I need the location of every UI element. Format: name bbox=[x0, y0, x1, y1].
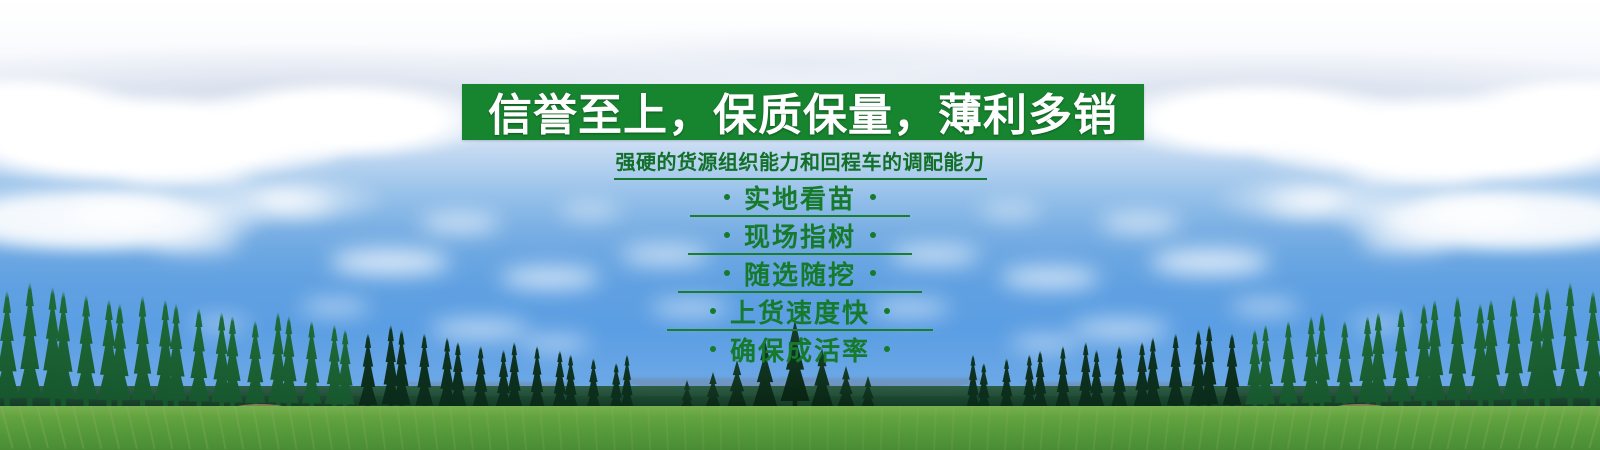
bullet-dot-icon bbox=[724, 270, 730, 276]
feature-row: 实地看苗 bbox=[0, 178, 1600, 216]
feature-row: 现场指树 bbox=[0, 216, 1600, 254]
feature-list: 实地看苗现场指树随选随挖上货速度快确保成活率 bbox=[0, 178, 1600, 368]
subtitle-text: 强硬的货源组织能力和回程车的调配能力 bbox=[614, 146, 987, 180]
subtitle: 强硬的货源组织能力和回程车的调配能力 bbox=[0, 146, 1600, 180]
bullet-dot-icon bbox=[870, 270, 876, 276]
bullet-dot-icon bbox=[884, 346, 890, 352]
promotional-banner: 信誉至上，保质保量，薄利多销 强硬的货源组织能力和回程车的调配能力 实地看苗现场… bbox=[0, 0, 1600, 450]
feature-label: 现场指树 bbox=[744, 217, 856, 254]
bullet-dot-icon bbox=[710, 346, 716, 352]
feature-label: 上货速度快 bbox=[730, 293, 870, 330]
bullet-dot-icon bbox=[884, 308, 890, 314]
feature-label: 随选随挖 bbox=[744, 255, 856, 292]
bullet-dot-icon bbox=[710, 308, 716, 314]
headline-text: 信誉至上，保质保量，薄利多销 bbox=[462, 82, 1144, 140]
feature-row: 上货速度快 bbox=[0, 292, 1600, 330]
bullet-dot-icon bbox=[870, 232, 876, 238]
feature-row: 确保成活率 bbox=[0, 330, 1600, 368]
bullet-dot-icon bbox=[724, 194, 730, 200]
feature-label: 确保成活率 bbox=[730, 331, 870, 368]
feature-label: 实地看苗 bbox=[744, 179, 856, 216]
bullet-dot-icon bbox=[724, 232, 730, 238]
bullet-dot-icon bbox=[870, 194, 876, 200]
feature-row: 随选随挖 bbox=[0, 254, 1600, 292]
banner-content: 信誉至上，保质保量，薄利多销 强硬的货源组织能力和回程车的调配能力 实地看苗现场… bbox=[0, 0, 1600, 450]
